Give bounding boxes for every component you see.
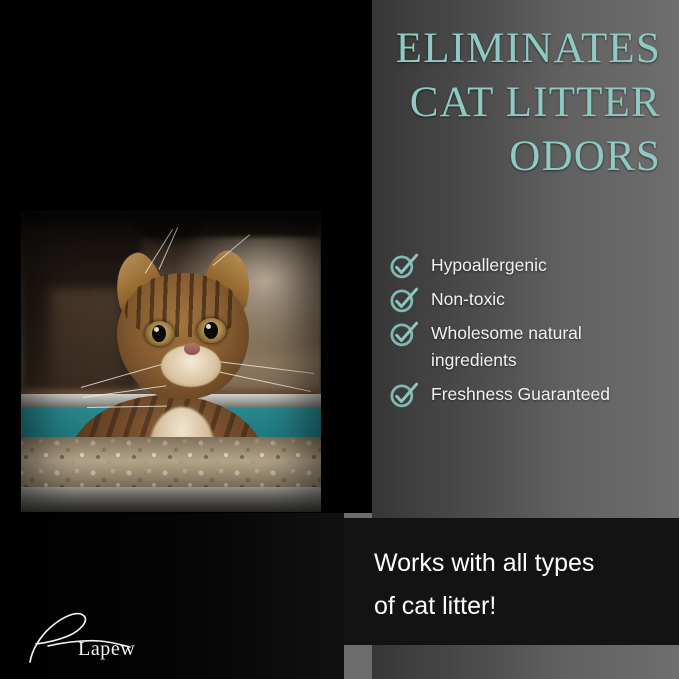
callout-text: Works with all types of cat litter! (374, 542, 664, 628)
list-item: Non-toxic (389, 286, 673, 313)
check-circle-icon (389, 287, 419, 313)
brand-logo: Lapew (26, 600, 156, 666)
page-title: ELIMINATES CAT LITTER ODORS (293, 22, 661, 184)
feature-label: Freshness Guaranteed (431, 381, 610, 408)
check-circle-icon (389, 382, 419, 408)
check-circle-icon (389, 321, 419, 347)
list-item: Hypoallergenic (389, 252, 673, 279)
check-circle-icon (389, 253, 419, 279)
list-item: Wholesome natural ingredients (389, 320, 673, 374)
feature-label: Hypoallergenic (431, 252, 547, 279)
feature-label: Non-toxic (431, 286, 505, 313)
kitten-photo (21, 211, 321, 512)
feature-label: Wholesome natural ingredients (431, 320, 646, 374)
feature-list: Hypoallergenic Non-toxic Wholesome natur… (389, 252, 673, 415)
list-item: Freshness Guaranteed (389, 381, 673, 408)
callout-panel: Works with all types of cat litter! (344, 518, 679, 645)
photo-vignette (21, 211, 321, 512)
brand-name: Lapew (78, 638, 135, 661)
product-advertisement: ELIMINATES CAT LITTER ODORS Hypoallergen… (0, 0, 679, 679)
